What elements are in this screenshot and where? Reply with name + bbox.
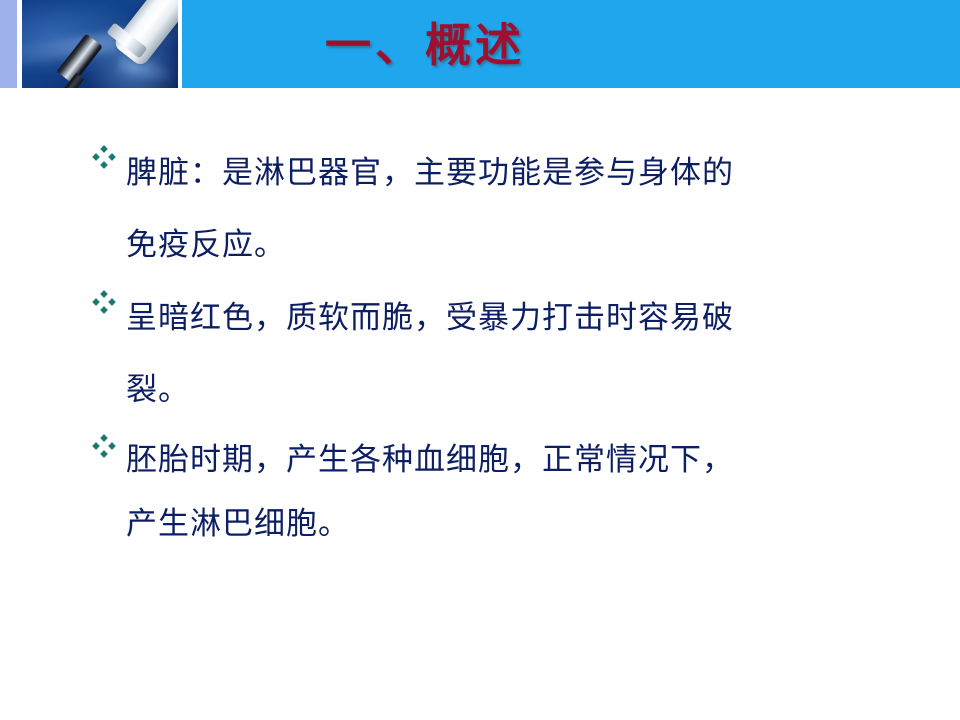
header-accent-strip: [0, 0, 17, 88]
title-bar: 一、概述: [182, 0, 960, 88]
list-item-line: 呈暗红色，质软而脆，受暴力打击时容易破: [126, 282, 882, 354]
list-item-line: 裂。: [126, 354, 882, 426]
diamond-bullet-icon: [92, 137, 126, 169]
list-item: 呈暗红色，质软而脆，受暴力打击时容易破 裂。: [92, 282, 882, 426]
list-item-line: 产生淋巴细胞。: [126, 494, 882, 554]
slide-header: 一、概述: [0, 0, 960, 88]
page-title: 一、概述: [325, 9, 525, 75]
slide-content: 脾脏：是淋巴器官，主要功能是参与身体的 免疫反应。 呈暗红色，质软而脆，受暴力打…: [0, 88, 960, 720]
diamond-bullet-icon: [92, 426, 126, 458]
list-item: 脾脏：是淋巴器官，主要功能是参与身体的 免疫反应。: [92, 137, 882, 281]
list-item-line: 脾脏：是淋巴器官，主要功能是参与身体的: [126, 137, 882, 209]
list-item: 胚胎时期，产生各种血细胞，正常情况下， 产生淋巴细胞。: [92, 426, 882, 554]
list-item-line: 免疫反应。: [126, 209, 882, 281]
syringe-needle-photo: [22, 0, 178, 88]
diamond-bullet-icon: [92, 282, 126, 314]
list-item-line: 胚胎时期，产生各种血细胞，正常情况下，: [126, 426, 882, 494]
